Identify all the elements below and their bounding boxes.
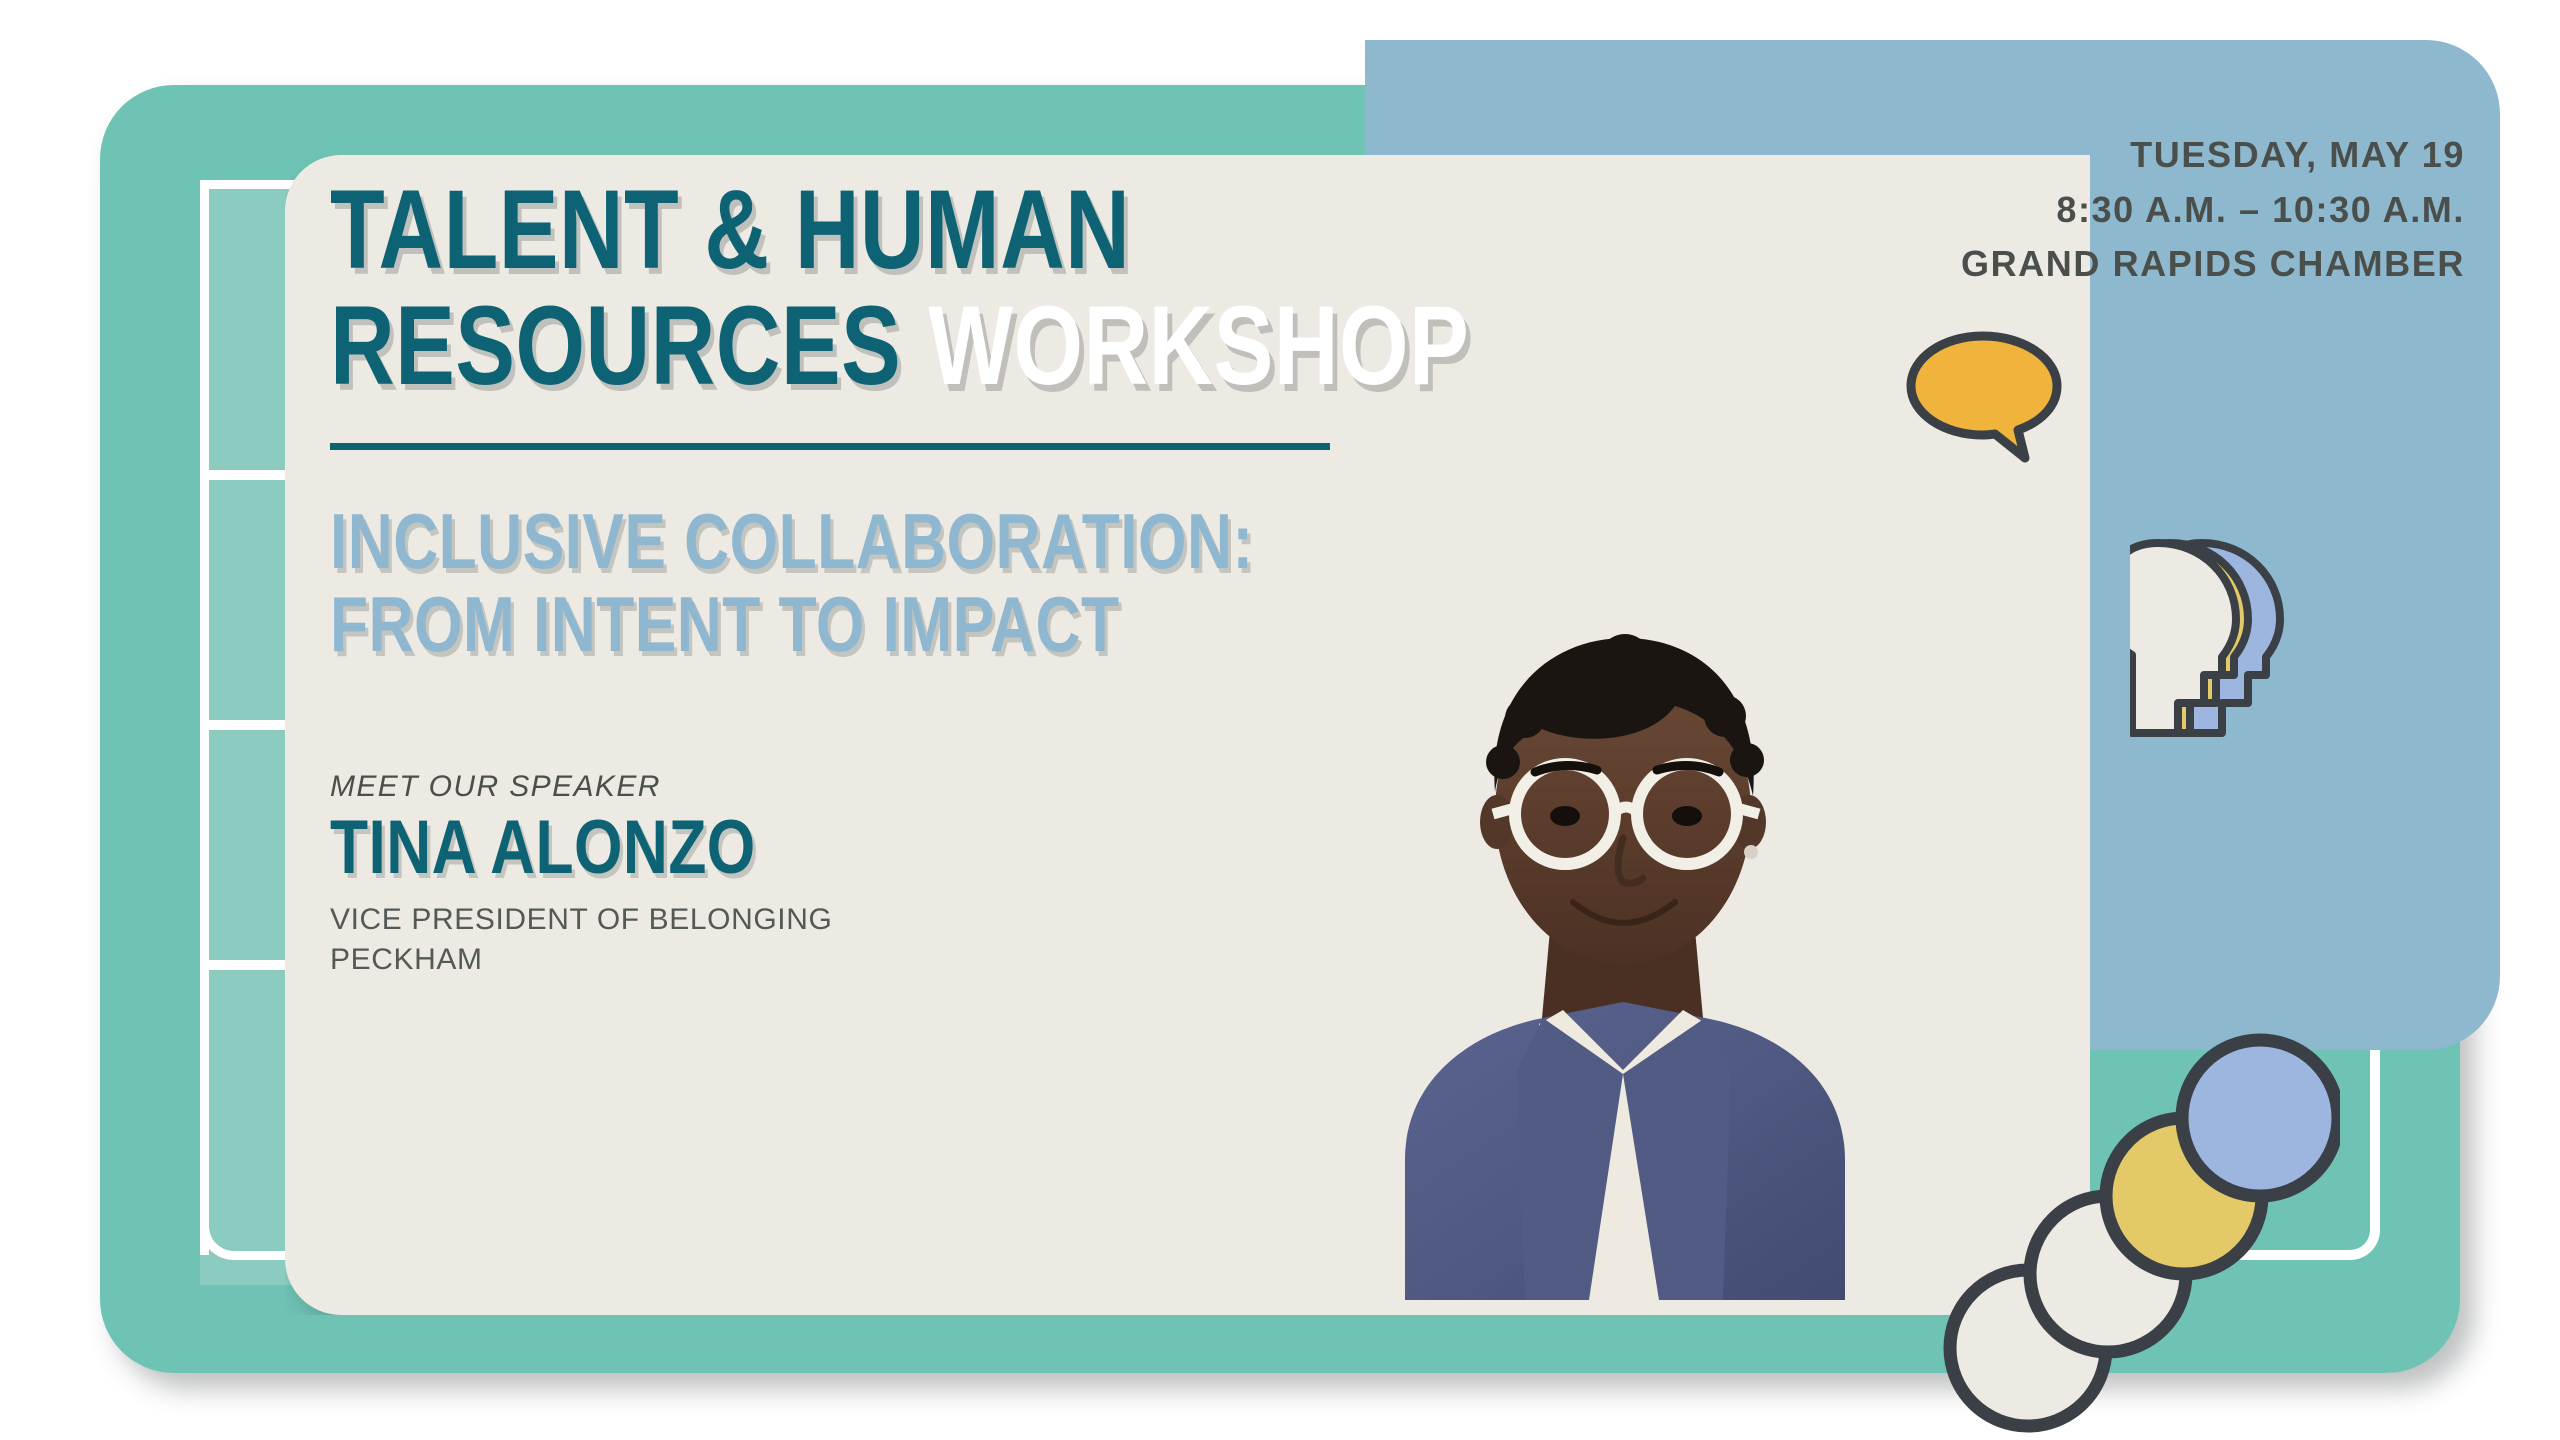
frame-left-seg-2	[200, 480, 209, 720]
event-details: TUESDAY, MAY 19 8:30 A.M. – 10:30 A.M. G…	[1961, 128, 2465, 292]
speaker-title: VICE PRESIDENT OF BELONGING	[330, 900, 1730, 941]
headline-workshop: WORKSHOP	[928, 283, 1469, 408]
event-location: GRAND RAPIDS CHAMBER	[1961, 237, 2465, 292]
poster-canvas: TALENT & HUMAN RESOURCESWORKSHOP INCLUSI…	[0, 0, 2560, 1440]
subhead-line-2: FROM INTENT TO IMPACT	[330, 585, 1450, 665]
headline-resources: RESOURCES	[330, 283, 901, 408]
headline-line-1: TALENT & HUMAN	[330, 175, 1450, 285]
frame-left-seg-1	[200, 180, 209, 470]
event-date: TUESDAY, MAY 19	[1961, 128, 2465, 183]
main-content: TALENT & HUMAN RESOURCESWORKSHOP INCLUSI…	[330, 175, 1730, 981]
title-divider	[330, 443, 1330, 450]
subhead-line-1: INCLUSIVE COLLABORATION:	[330, 502, 1450, 582]
event-time: 8:30 A.M. – 10:30 A.M.	[1961, 183, 2465, 238]
speaker-organization: PECKHAM	[330, 940, 1730, 981]
speaker-eyebrow: MEET OUR SPEAKER	[330, 770, 1730, 804]
layered-head-profiles-icon	[2130, 535, 2330, 745]
speaker-block: MEET OUR SPEAKER TINA ALONZO VICE PRESID…	[330, 770, 1730, 982]
speaker-name: TINA ALONZO	[330, 810, 1478, 886]
speech-bubble-icon	[1905, 330, 2065, 470]
overlapping-circles-icon	[1940, 1030, 2340, 1440]
headline-line-2: RESOURCESWORKSHOP	[330, 291, 1450, 401]
frame-left-seg-3	[200, 730, 209, 960]
